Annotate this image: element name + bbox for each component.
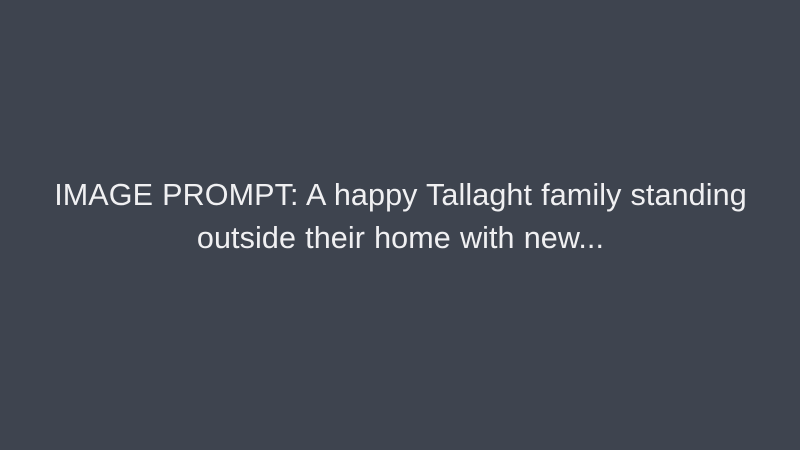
image-placeholder-canvas: IMAGE PROMPT: A happy Tallaght family st…	[0, 0, 800, 450]
image-prompt-text: IMAGE PROMPT: A happy Tallaght family st…	[33, 173, 767, 259]
